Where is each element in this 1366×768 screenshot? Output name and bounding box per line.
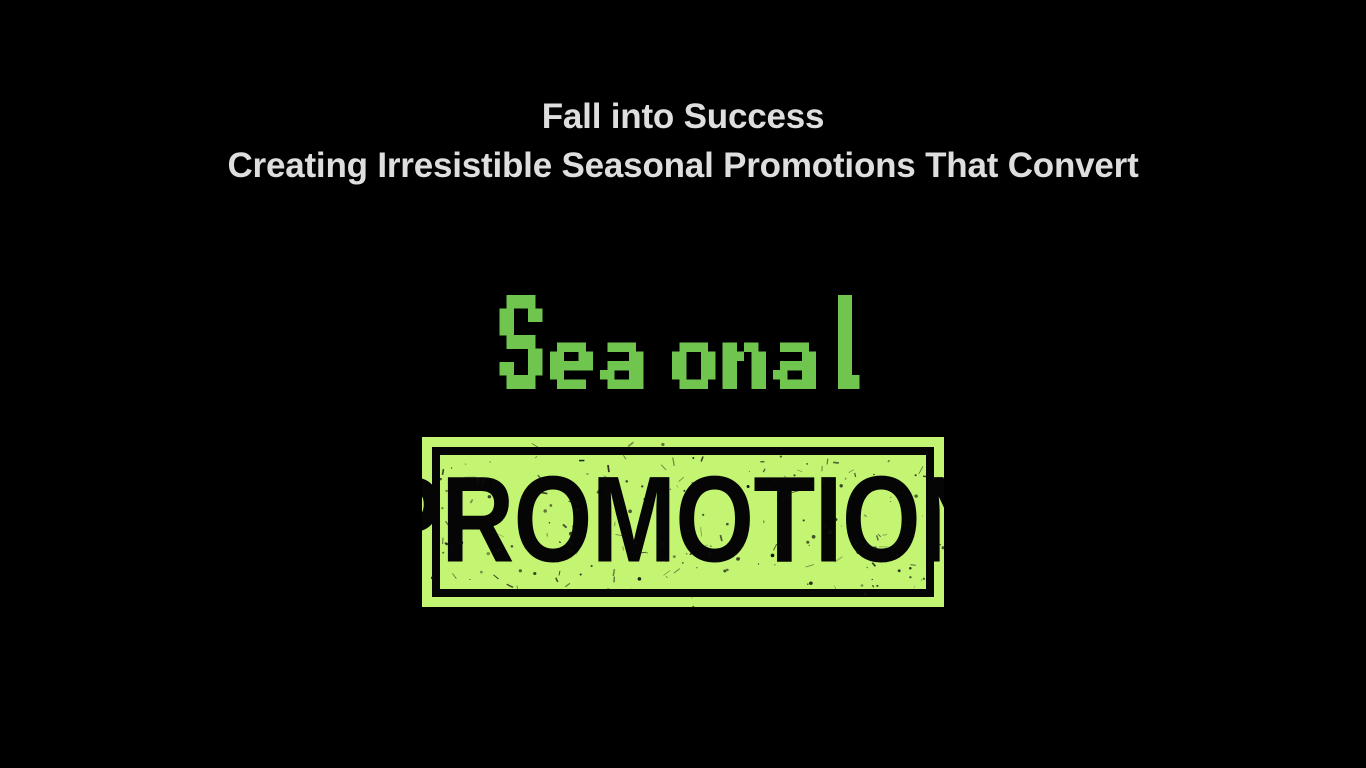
promotion-stamp-label: PROMOTION [422, 470, 944, 570]
pixel-word-seasonal [0, 258, 1366, 393]
heading-block: Fall into Success Creating Irresistible … [0, 92, 1366, 190]
promotion-stamp-inner: PROMOTION [432, 447, 934, 597]
seasonal-pixel-art [383, 258, 983, 393]
heading-line-2: Creating Irresistible Seasonal Promotion… [0, 141, 1366, 190]
heading-line-1: Fall into Success [0, 92, 1366, 141]
promotion-stamp: PROMOTION [422, 437, 944, 607]
slide-canvas: Fall into Success Creating Irresistible … [0, 0, 1366, 768]
